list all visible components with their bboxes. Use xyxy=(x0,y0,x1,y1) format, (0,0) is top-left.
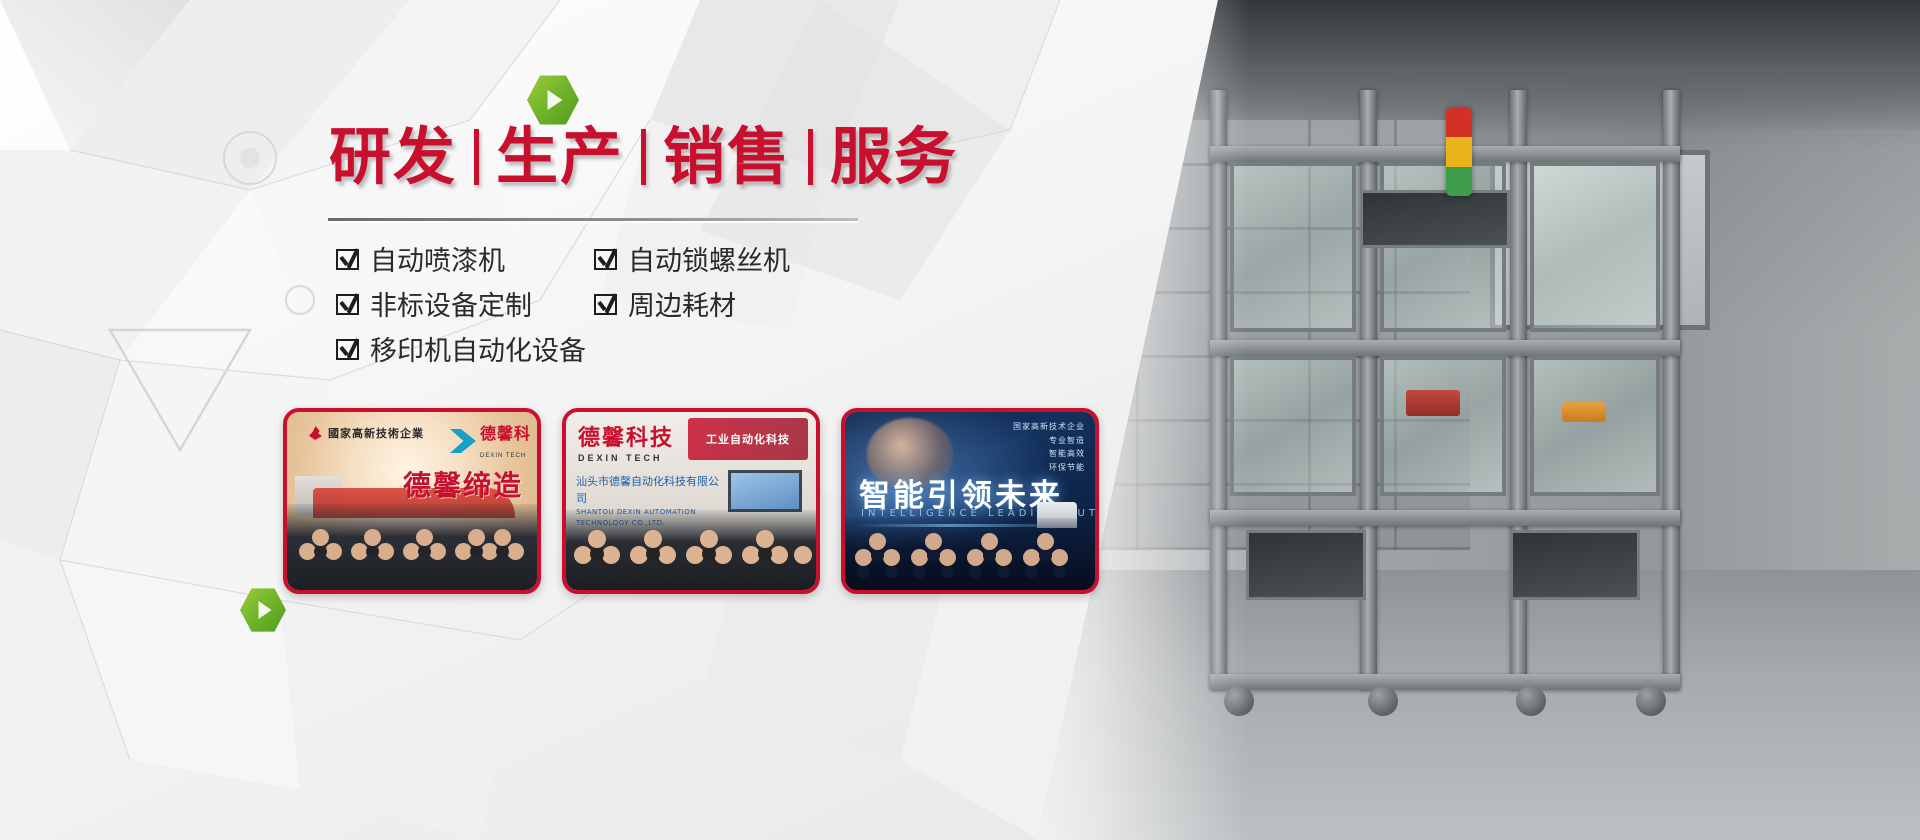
award-badge: 國家高新技術企業 xyxy=(309,425,424,441)
status-badge: 国家高新技术企业 xyxy=(1013,420,1085,434)
logo-en-text: DEXIN TECH xyxy=(578,453,674,463)
list-item-label: 周边耗材 xyxy=(628,284,736,323)
group-photo-people xyxy=(845,518,1095,590)
photo-card-intelligence-future[interactable]: 国家高新技术企业 专业智造 智能高效 环保节能 智能引领未来 INTELLIGE… xyxy=(841,408,1099,594)
list-item-label: 自动喷漆机 xyxy=(370,239,505,278)
checkbox-checked-icon xyxy=(594,247,617,270)
logo-cn-text: 德馨科 xyxy=(480,426,531,443)
tower-light-icon xyxy=(1446,108,1472,196)
headline-separator xyxy=(474,129,479,185)
status-badge: 智能高效 xyxy=(1013,447,1085,461)
headline-separator xyxy=(808,129,813,185)
logo-en-text: DEXIN TECH xyxy=(480,453,526,459)
photo-card-gallery: 國家高新技術企業 德馨科 DEXIN TECH 德馨缔造 xyxy=(283,408,1099,594)
badge-list: 国家高新技术企业 专业智造 智能高效 环保节能 xyxy=(1013,420,1085,474)
flame-icon xyxy=(309,426,322,440)
headline-word-3: 销售 xyxy=(660,126,794,188)
x-mark-icon xyxy=(450,429,476,453)
list-item: 自动锁螺丝机 xyxy=(594,236,852,281)
automation-machine xyxy=(1210,90,1680,690)
headline-word-1: 研发 xyxy=(326,126,460,188)
banner-content: 研发 生产 销售 服务 自动喷漆机 自动锁螺丝机 xyxy=(0,0,1100,840)
checkbox-checked-icon xyxy=(336,292,359,315)
headline-separator xyxy=(641,129,646,185)
checkbox-checked-icon xyxy=(336,247,359,270)
logo-cn-text: 德馨科技 xyxy=(578,420,674,452)
company-name-cn: 汕头市德馨自动化科技有限公司 xyxy=(576,474,726,507)
hero-banner: 研发 生产 销售 服务 自动喷漆机 自动锁螺丝机 xyxy=(0,0,1920,840)
status-badge: 专业智造 xyxy=(1013,434,1085,448)
feature-list: 自动喷漆机 自动锁螺丝机 非标设备定制 周边耗材 xyxy=(336,236,856,371)
list-item: 自动喷漆机 xyxy=(336,236,594,281)
company-logo: 德馨科 DEXIN TECH xyxy=(450,420,531,462)
list-item-label: 非标设备定制 xyxy=(370,284,532,323)
list-item: 周边耗材 xyxy=(594,281,852,326)
card-slogan: 德馨缔造 xyxy=(403,464,523,504)
booth-banner: 工业自动化科技 xyxy=(688,418,808,460)
company-logo: 德馨科技 DEXIN TECH xyxy=(578,420,674,463)
photo-card-exhibition-booth[interactable]: 德馨科技 DEXIN TECH 工业自动化科技 汕头市德馨自动化科技有限公司 S… xyxy=(562,408,820,594)
photo-card-award-ceremony[interactable]: 國家高新技術企業 德馨科 DEXIN TECH 德馨缔造 xyxy=(283,408,541,594)
checkbox-checked-icon xyxy=(336,337,359,360)
page-title: 研发 生产 销售 服务 xyxy=(326,126,961,188)
factory-automation-machine-photo xyxy=(1020,0,1920,840)
group-photo-people xyxy=(566,510,816,590)
list-item-label: 移印机自动化设备 xyxy=(370,329,586,368)
headline-word-4: 服务 xyxy=(827,126,961,188)
headline-word-2: 生产 xyxy=(493,126,627,188)
checkbox-checked-icon xyxy=(594,292,617,315)
play-hexagon-icon xyxy=(240,587,286,633)
play-hexagon-icon xyxy=(527,74,579,126)
divider xyxy=(328,218,858,221)
booth-banner-text: 工业自动化科技 xyxy=(688,418,808,460)
group-photo-people xyxy=(287,504,537,590)
list-item: 非标设备定制 xyxy=(336,281,594,326)
list-item-label: 自动锁螺丝机 xyxy=(628,239,790,278)
award-label: 國家高新技術企業 xyxy=(328,425,424,441)
list-item: 移印机自动化设备 xyxy=(336,326,856,371)
